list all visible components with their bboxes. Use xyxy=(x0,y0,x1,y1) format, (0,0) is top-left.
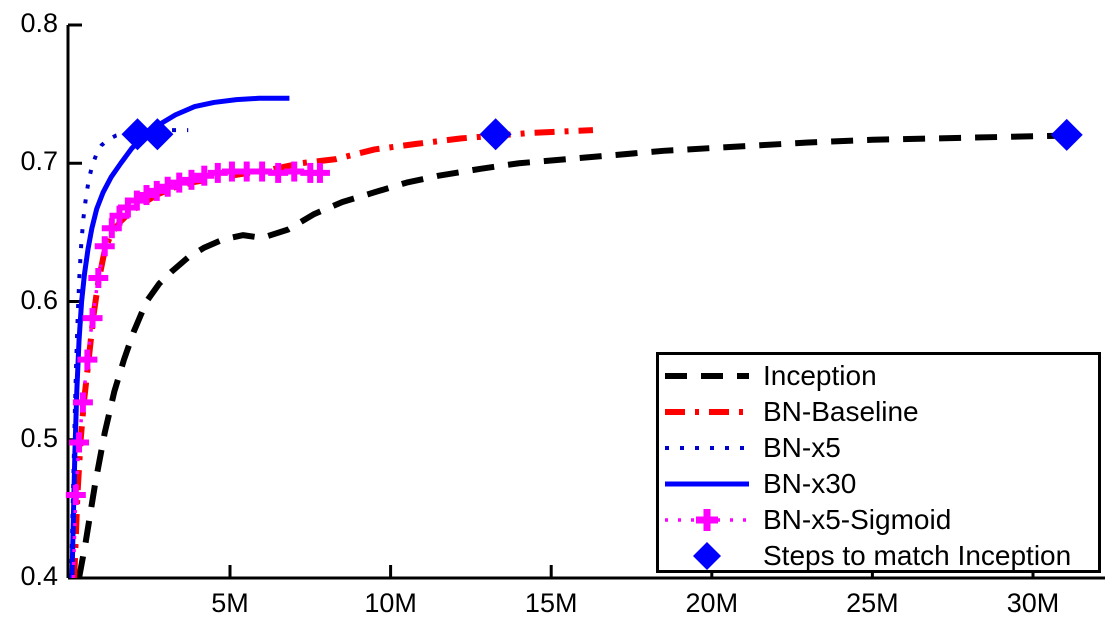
legend-label: BN-x5 xyxy=(755,434,841,462)
steps-to-match-marker xyxy=(1051,119,1083,151)
x-tick-label: 15M xyxy=(496,588,606,619)
legend-item-bn-x30[interactable]: BN-x30 xyxy=(659,466,1098,502)
plus-marker xyxy=(83,308,103,328)
steps-to-match-marker xyxy=(480,118,512,150)
legend-item-bn-x5[interactable]: BN-x5 xyxy=(659,430,1098,466)
y-tick-label: 0.4 xyxy=(0,561,58,592)
figure-container: 0.40.50.60.70.8 5M10M15M20M25M30M Incept… xyxy=(0,0,1107,633)
plus-marker xyxy=(95,236,115,256)
plus-marker xyxy=(88,268,108,288)
legend-label: BN-x5-Sigmoid xyxy=(755,506,951,534)
x-tick-label: 10M xyxy=(336,588,446,619)
y-tick-label: 0.5 xyxy=(0,423,58,454)
x-tick-label: 5M xyxy=(175,588,285,619)
legend-item-inception[interactable]: Inception xyxy=(659,358,1098,394)
dotted-line-sample xyxy=(659,430,755,466)
y-tick-label: 0.8 xyxy=(0,8,58,39)
legend-label: BN-x30 xyxy=(755,470,856,498)
legend-label: Steps to match Inception xyxy=(755,542,1071,570)
dashdot-line-sample xyxy=(659,394,755,430)
solid-line-sample xyxy=(659,466,755,502)
legend-item-bn-baseline[interactable]: BN-Baseline xyxy=(659,394,1098,430)
legend-label: Inception xyxy=(755,362,877,390)
legend-label: BN-Baseline xyxy=(755,398,919,426)
steps-to-match-marker xyxy=(141,118,173,150)
x-tick-label: 25M xyxy=(817,588,927,619)
legend-item-steps-to-match-inception[interactable]: Steps to match Inception xyxy=(659,538,1098,574)
y-tick-label: 0.6 xyxy=(0,285,58,316)
diamond-marker-sample xyxy=(659,538,755,574)
match-markers xyxy=(121,118,1082,151)
legend-item-bn-x5-sigmoid[interactable]: BN-x5-Sigmoid xyxy=(659,502,1098,538)
chart-legend: InceptionBN-BaselineBN-x5BN-x30BN-x5-Sig… xyxy=(656,352,1101,573)
plus-marker xyxy=(69,433,89,453)
x-tick-label: 30M xyxy=(978,588,1088,619)
dotted-plus-sample xyxy=(659,502,755,538)
y-tick-label: 0.7 xyxy=(0,146,58,177)
x-tick-label: 20M xyxy=(657,588,767,619)
dashed-line-sample xyxy=(659,358,755,394)
